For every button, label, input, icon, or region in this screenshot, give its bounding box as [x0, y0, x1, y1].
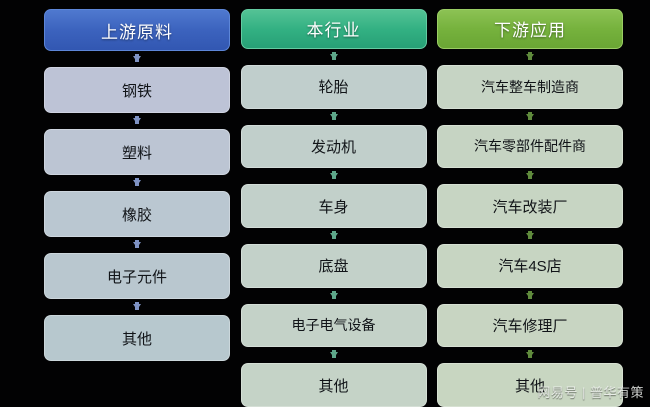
column-header-downstream: 下游应用 — [437, 9, 623, 49]
node-upstream-4: 其他 — [44, 315, 230, 361]
node-industry-1: 发动机 — [241, 125, 427, 169]
node-downstream-3: 汽车4S店 — [437, 244, 623, 288]
connector-arrow — [44, 113, 230, 129]
node-downstream-2: 汽车改装厂 — [437, 184, 623, 228]
arrow-down-icon — [330, 54, 338, 60]
watermark: 网易号 | 普华有策 — [537, 382, 644, 401]
column-header-upstream: 上游原料 — [44, 9, 230, 51]
connector-arrow — [437, 228, 623, 244]
connector-arrow — [241, 49, 427, 65]
arrow-down-icon — [330, 114, 338, 120]
connector-arrow — [241, 168, 427, 184]
arrow-down-icon — [526, 114, 534, 120]
arrow-down-icon — [133, 118, 141, 124]
arrow-down-icon — [330, 233, 338, 239]
arrow-down-icon — [526, 54, 534, 60]
arrow-down-icon — [133, 56, 141, 62]
connector-arrow — [437, 109, 623, 125]
arrow-down-icon — [526, 293, 534, 299]
arrow-down-icon — [133, 180, 141, 186]
connector-arrow — [437, 347, 623, 363]
node-upstream-1: 塑料 — [44, 129, 230, 175]
arrow-down-icon — [526, 233, 534, 239]
column-downstream: 下游应用 汽车整车制造商 汽车零部件配件商 汽车改装厂 汽车4S店 汽车修理厂 … — [437, 0, 623, 407]
arrow-down-icon — [133, 304, 141, 310]
column-header-industry: 本行业 — [241, 9, 427, 49]
arrow-down-icon — [330, 293, 338, 299]
arrow-down-icon — [526, 173, 534, 179]
connector-arrow — [437, 168, 623, 184]
arrow-down-icon — [526, 352, 534, 358]
connector-arrow — [44, 175, 230, 191]
connector-arrow — [241, 288, 427, 304]
connector-arrow — [437, 49, 623, 65]
node-upstream-3: 电子元件 — [44, 253, 230, 299]
node-industry-2: 车身 — [241, 184, 427, 228]
node-downstream-1: 汽车零部件配件商 — [437, 125, 623, 169]
node-industry-3: 底盘 — [241, 244, 427, 288]
node-downstream-4: 汽车修理厂 — [437, 304, 623, 348]
arrow-down-icon — [330, 352, 338, 358]
node-industry-0: 轮胎 — [241, 65, 427, 109]
industry-chain-diagram: 上游原料 钢铁 塑料 橡胶 电子元件 其他 本行业 轮胎 发动机 车身 底盘 电… — [0, 0, 650, 407]
arrow-down-icon — [330, 173, 338, 179]
connector-arrow — [437, 288, 623, 304]
column-upstream: 上游原料 钢铁 塑料 橡胶 电子元件 其他 — [44, 0, 230, 407]
connector-arrow — [241, 228, 427, 244]
node-industry-4: 电子电气设备 — [241, 304, 427, 348]
node-industry-5: 其他 — [241, 363, 427, 407]
connector-arrow — [44, 51, 230, 67]
node-upstream-0: 钢铁 — [44, 67, 230, 113]
connector-arrow — [44, 299, 230, 315]
connector-arrow — [241, 109, 427, 125]
connector-arrow — [241, 347, 427, 363]
node-upstream-2: 橡胶 — [44, 191, 230, 237]
connector-arrow — [44, 237, 230, 253]
node-downstream-0: 汽车整车制造商 — [437, 65, 623, 109]
column-industry: 本行业 轮胎 发动机 车身 底盘 电子电气设备 其他 — [241, 0, 427, 407]
arrow-down-icon — [133, 242, 141, 248]
